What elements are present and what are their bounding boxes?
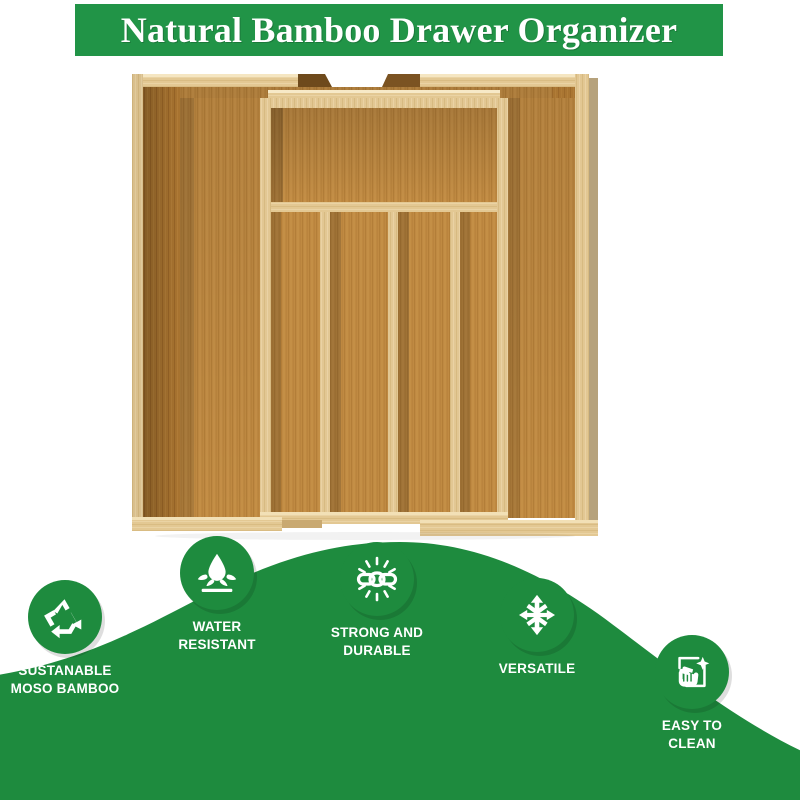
chain-link-icon	[353, 555, 401, 603]
feature-label-line: CLEAN	[662, 735, 722, 753]
feature-label: VERSATILE	[499, 660, 576, 678]
water-drop-icon	[194, 550, 240, 596]
feature-badge-water-resistant[interactable]: WATER RESISTANT	[180, 536, 254, 610]
page-title: Natural Bamboo Drawer Organizer	[121, 9, 677, 51]
feature-badge-sustainable-moso-bamboo[interactable]: SUSTANABLE MOSO BAMBOO	[28, 580, 102, 654]
badge-circle	[500, 578, 574, 652]
title-banner: Natural Bamboo Drawer Organizer	[75, 4, 723, 56]
product-image	[120, 62, 610, 540]
feature-badge-easy-to-clean[interactable]: EASY TO CLEAN	[655, 635, 729, 709]
feature-label-line: VERSATILE	[499, 660, 576, 678]
feature-label-line: SUSTANABLE	[11, 662, 120, 680]
feature-badge-strong-and-durable[interactable]: STRONG AND DURABLE	[340, 542, 414, 616]
wiping-hand-sparkle-icon	[669, 649, 715, 695]
feature-label-line: RESISTANT	[178, 636, 255, 654]
multi-arrows-icon	[514, 592, 560, 638]
badge-circle	[655, 635, 729, 709]
badge-circle	[28, 580, 102, 654]
badge-circle	[180, 536, 254, 610]
badge-circle	[340, 542, 414, 616]
feature-badge-versatile[interactable]: VERSATILE	[500, 578, 574, 652]
feature-label-line: EASY TO	[662, 717, 722, 735]
feature-label-line: WATER	[178, 618, 255, 636]
feature-label: STRONG AND DURABLE	[331, 624, 423, 659]
recycle-icon	[42, 594, 88, 640]
feature-label-line: DURABLE	[331, 642, 423, 660]
infographic-canvas: Natural Bamboo Drawer Organizer	[0, 0, 800, 800]
feature-label: WATER RESISTANT	[178, 618, 255, 653]
bamboo-organizer-illustration	[120, 62, 610, 540]
feature-label: SUSTANABLE MOSO BAMBOO	[11, 662, 120, 697]
feature-label-line: STRONG AND	[331, 624, 423, 642]
feature-label: EASY TO CLEAN	[662, 717, 722, 752]
feature-label-line: MOSO BAMBOO	[11, 680, 120, 698]
